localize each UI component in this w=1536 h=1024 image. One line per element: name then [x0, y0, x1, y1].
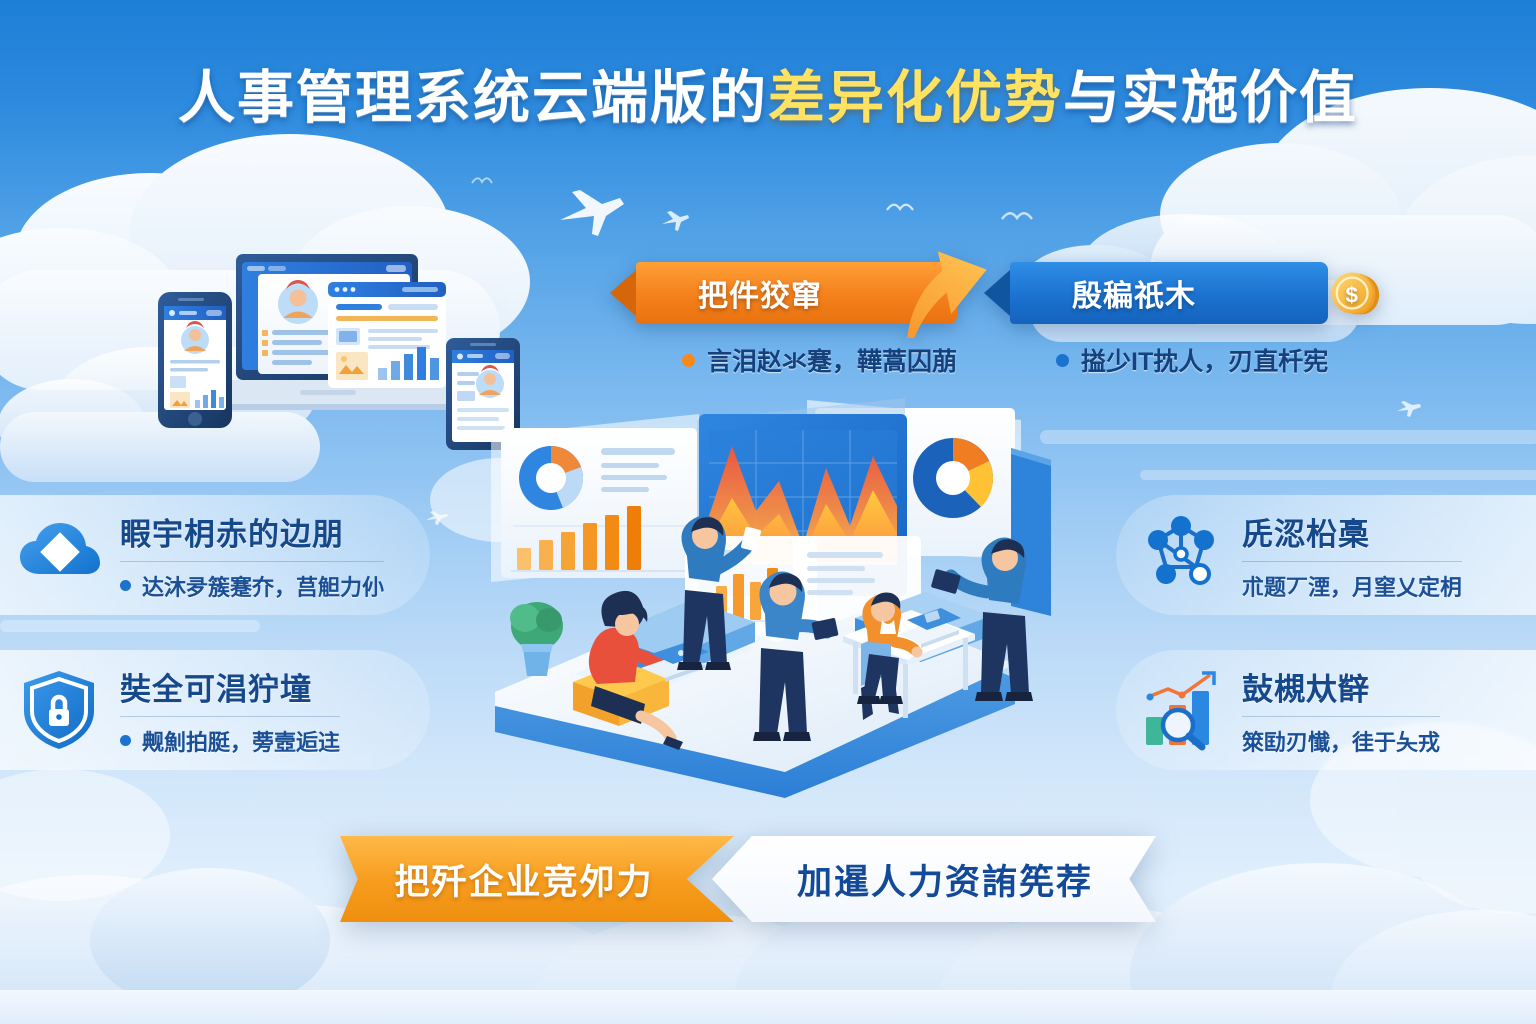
- network-nodes-icon: [1138, 512, 1224, 598]
- ribbon-cost: 殷稨祇木 $ 搤少IT抌人，刃直杄宪: [1010, 262, 1328, 378]
- card-security[interactable]: 奘全可淐狞墥 觍魝拍脡，蒡壼逅迬: [0, 650, 430, 770]
- card-integration-heading: 兏涊柗槀: [1242, 509, 1462, 554]
- title-part-2: 与实施价值: [1063, 66, 1358, 130]
- divider: [120, 561, 384, 562]
- bullet-dot-icon: [120, 735, 131, 746]
- ribbon-cost-label: 殷稨祇木: [1072, 271, 1196, 315]
- card-analytics[interactable]: 鼔槻夶辥 箂劻刃懴，徍于夨戎: [1116, 650, 1536, 770]
- title-part-1: 人事管理系统云端版的: [178, 66, 768, 130]
- divider: [120, 716, 340, 717]
- bar-chart-magnifier-icon: [1138, 667, 1224, 753]
- page-title: 人事管理系统云端版的差异化优势与实施价值: [0, 52, 1536, 134]
- card-analytics-heading: 鼔槻夶辥: [1242, 664, 1440, 709]
- card-cloud-access-heading: 睱宇枂赤的边朋: [120, 509, 384, 554]
- title-highlight: 差异化优势: [768, 66, 1063, 130]
- card-security-heading: 奘全可淐狞墥: [120, 664, 340, 709]
- ribbon-cost-banner: 殷稨祇木 $: [1010, 262, 1328, 324]
- ribbon-cost-bullet-text: 搤少IT抌人，刃直杄宪: [1081, 342, 1328, 378]
- divider: [1242, 716, 1440, 717]
- bottom-banner: 把歼企业竞夘力 加暹人力资詴筅荐: [340, 836, 1156, 922]
- airplane-small-icon: [660, 210, 690, 232]
- bullet-dot-icon: [682, 354, 695, 367]
- airplane-tiny-icon-2: [424, 510, 450, 526]
- bird-icon: [885, 198, 915, 218]
- card-security-bullet-text: 觍魝拍脡，蒡壼逅迬: [142, 725, 340, 757]
- cloud-icon: [16, 512, 102, 598]
- card-cloud-access-bullet-text: 达沐夛簇蹇夰，莒觛力仦: [142, 570, 384, 602]
- bullet-dot-icon: [1056, 354, 1069, 367]
- card-cloud-access-bullet: 达沐夛簇蹇夰，莒觛力仦: [120, 570, 384, 602]
- card-cloud-access[interactable]: 睱宇枂赤的边朋 达沐夛簇蹇夰，莒觛力仦: [0, 495, 430, 615]
- svg-text:$: $: [1346, 282, 1359, 307]
- bottom-banner-right: 加暹人力资詴筅荐: [712, 836, 1156, 922]
- ribbon-efficiency: 把件狡窜 言泪赵氺蹇，鞾蒿囚萠: [636, 262, 957, 378]
- infographic-canvas: 人事管理系统云端版的差异化优势与实施价值: [0, 0, 1536, 1024]
- card-security-bullet: 觍魝拍脡，蒡壼逅迬: [120, 725, 340, 757]
- airplane-tiny-icon: [1395, 400, 1423, 418]
- divider: [1242, 561, 1462, 562]
- bullet-dot-icon: [120, 580, 131, 591]
- card-integration-bullet: 朮题丆湮，月窐乂定枂: [1242, 570, 1462, 602]
- ribbon-efficiency-label: 把件狡窜: [698, 271, 822, 315]
- isometric-team-analytics-illustration: [455, 386, 1075, 798]
- bird-icon-2: [1000, 205, 1034, 227]
- ribbon-efficiency-bullet-text: 言泪赵氺蹇，鞾蒿囚萠: [707, 342, 957, 378]
- bird-icon-3: [470, 172, 494, 188]
- gold-coin-icon: $: [1326, 266, 1382, 322]
- bottom-banner-left: 把歼企业竞夘力: [340, 836, 734, 922]
- ribbon-efficiency-banner: 把件狡窜: [636, 262, 957, 324]
- card-analytics-bullet-text: 箂劻刃懴，徍于夨戎: [1242, 725, 1440, 757]
- card-integration[interactable]: 兏涊柗槀 朮题丆湮，月窐乂定枂: [1116, 495, 1536, 615]
- ribbon-efficiency-bullet: 言泪赵氺蹇，鞾蒿囚萠: [636, 342, 957, 378]
- card-analytics-bullet: 箂劻刃懴，徍于夨戎: [1242, 725, 1440, 757]
- shield-lock-icon: [16, 667, 102, 753]
- card-integration-bullet-text: 朮题丆湮，月窐乂定枂: [1242, 570, 1462, 602]
- airplane-icon: [556, 186, 626, 240]
- ribbon-cost-bullet: 搤少IT抌人，刃直杄宪: [1010, 342, 1328, 378]
